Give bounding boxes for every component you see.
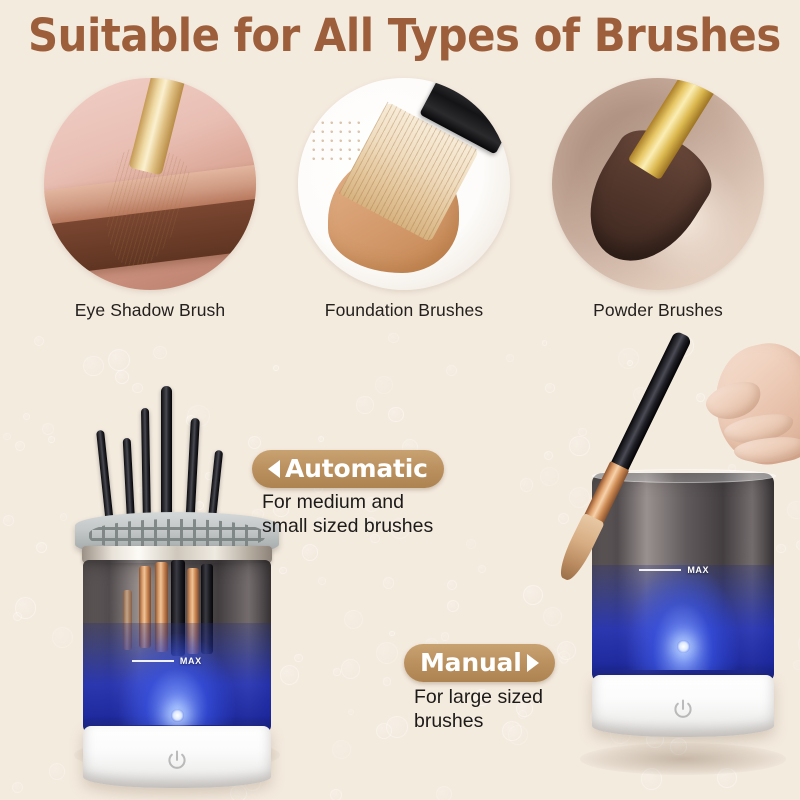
- bubble: [34, 336, 45, 347]
- bubble: [543, 607, 562, 626]
- bubble: [230, 785, 247, 800]
- max-level-indicator: MAX: [132, 656, 202, 666]
- bubble: [42, 423, 54, 435]
- bubble: [796, 540, 800, 550]
- brush-type-card-powder: Powder Brushes: [530, 78, 786, 333]
- eyeshadow-brush-photo: [44, 78, 256, 290]
- bubble: [280, 665, 300, 685]
- brush-type-caption: Eye Shadow Brush: [22, 300, 278, 321]
- automatic-description-line2: small sized brushes: [262, 514, 492, 538]
- powder-brush-photo: [552, 78, 764, 290]
- bubble: [558, 651, 570, 663]
- bubble: [793, 660, 800, 670]
- automatic-description: For medium and small sized brushes: [262, 490, 492, 538]
- arrow-left-icon: [268, 460, 280, 478]
- bubble: [388, 407, 404, 423]
- bubble: [302, 544, 318, 560]
- bubble: [447, 580, 457, 590]
- bubble: [332, 740, 351, 759]
- power-icon[interactable]: [670, 697, 696, 723]
- bubble: [389, 631, 395, 637]
- brush-type-caption: Foundation Brushes: [276, 300, 532, 321]
- bubble: [356, 396, 374, 414]
- hand-holding-brush: [690, 330, 800, 476]
- bubble: [23, 413, 30, 420]
- bubble: [376, 642, 398, 664]
- bubble: [330, 789, 342, 800]
- badge-label: Manual: [420, 648, 522, 678]
- bubble: [48, 436, 54, 442]
- badge-automatic[interactable]: Automatic: [252, 450, 444, 488]
- bubble: [3, 433, 10, 440]
- usage-scene: MAX Automatic For medium and small sized…: [0, 330, 800, 800]
- bubble: [383, 577, 394, 588]
- bubble: [318, 577, 326, 585]
- device-base: [592, 675, 774, 737]
- bubble: [333, 668, 340, 675]
- page-title: Suitable for All Types of Brushes: [28, 8, 772, 64]
- bubble: [15, 597, 36, 618]
- foundation-brush-photo: [298, 78, 510, 290]
- power-icon[interactable]: [164, 748, 190, 774]
- product-infographic: Suitable for All Types of Brushes Eye Sh…: [0, 0, 800, 800]
- badge-label: Automatic: [285, 454, 428, 484]
- bubble: [52, 627, 73, 648]
- bubble: [13, 612, 22, 621]
- bubble: [441, 632, 450, 641]
- bubble: [446, 365, 457, 376]
- brush-type-card-eye-shadow: Eye Shadow Brush: [22, 78, 278, 333]
- bubble: [542, 340, 548, 346]
- bubble: [478, 565, 486, 573]
- bubble: [466, 539, 475, 548]
- device-shadow: [580, 743, 786, 775]
- automatic-description-line1: For medium and: [262, 490, 492, 514]
- bubble: [376, 723, 392, 739]
- bubble: [341, 659, 361, 679]
- badge-manual[interactable]: Manual: [404, 644, 555, 682]
- automatic-brush-cleaner-with-lid[interactable]: MAX: [72, 350, 282, 770]
- bubble: [49, 763, 65, 779]
- arrow-right-icon: [527, 654, 539, 672]
- bubble: [436, 786, 452, 800]
- bubble: [15, 441, 25, 451]
- brush-type-caption: Powder Brushes: [530, 300, 786, 321]
- bubble: [506, 354, 514, 362]
- bubble: [560, 656, 568, 664]
- bubble: [375, 376, 394, 395]
- transparent-tank: MAX: [83, 560, 271, 735]
- device-base: [83, 726, 271, 788]
- bubble: [545, 383, 554, 392]
- bubble: [60, 513, 67, 520]
- brush-type-card-foundation: Foundation Brushes: [276, 78, 532, 333]
- bubble: [787, 501, 800, 519]
- bubble: [388, 333, 398, 343]
- bubble: [3, 515, 14, 526]
- bubble: [447, 600, 459, 612]
- bubble: [36, 542, 47, 553]
- bubble: [557, 641, 576, 660]
- brush-types-row: Eye Shadow Brush Foundation Brushes Powd…: [0, 78, 800, 333]
- bubble: [348, 709, 354, 715]
- bubble: [386, 716, 408, 738]
- bubble: [318, 436, 324, 442]
- bubble: [12, 782, 23, 793]
- bubble: [383, 677, 391, 685]
- bubble: [294, 654, 303, 663]
- bubble: [344, 610, 363, 629]
